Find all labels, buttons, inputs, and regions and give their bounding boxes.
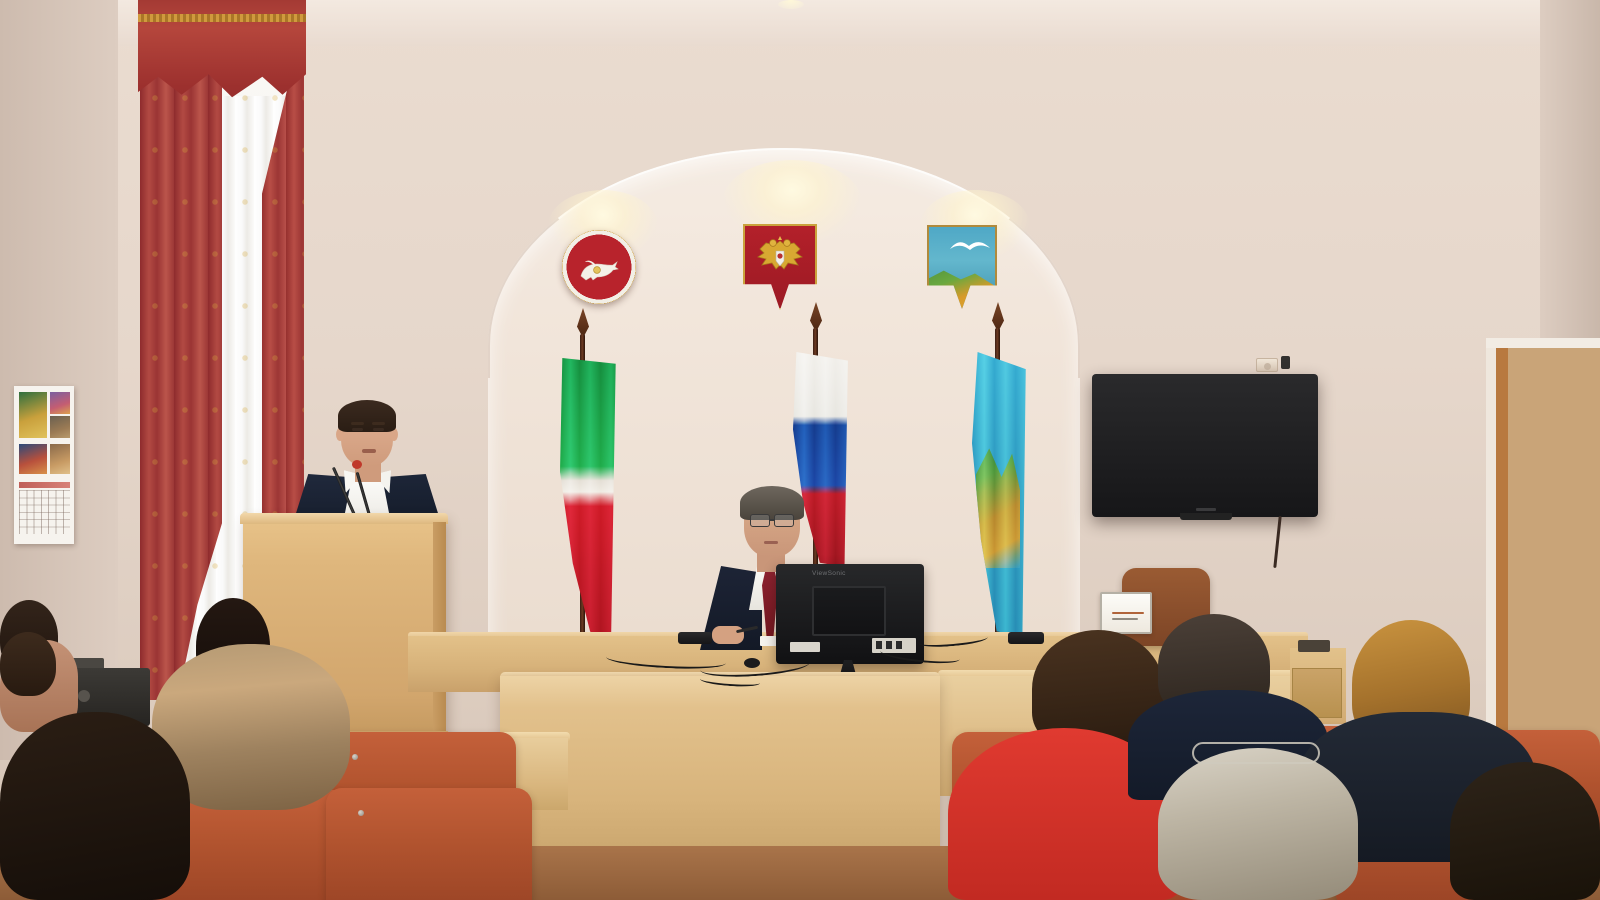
official-eyeglasses-left-lens (750, 514, 770, 527)
wall-outlet[interactable] (1256, 358, 1278, 372)
seagull-icon (949, 239, 991, 253)
audience-eyeglasses-on-head (1192, 742, 1320, 764)
calendar-date-grid (19, 490, 70, 534)
conference-hall-photo: 2023 О ПРОВЕДЕНИИ РАЙОННОЙ СПАРТАКИАДЫ С… (0, 0, 1600, 900)
speaker-eye-left (352, 428, 363, 431)
door-header-trim (1486, 338, 1600, 348)
podium-top-surface (240, 513, 448, 524)
speaker-brow-right (372, 422, 385, 425)
snow-leopard-icon (577, 256, 621, 282)
calendar-photo (19, 444, 47, 474)
official-eyeglasses-bridge (770, 519, 775, 521)
speaker-eye-right (373, 428, 384, 431)
chair-stud (358, 810, 364, 816)
podium-microphone-head-icon (352, 460, 362, 469)
speaker-brow-left (351, 422, 364, 425)
audience-head (1158, 748, 1358, 900)
audience-head (0, 632, 56, 696)
wall-calendar (14, 386, 74, 544)
audience-head (0, 712, 190, 900)
coat-of-arms-tatarstan-icon (562, 230, 636, 304)
speaker-mouth (362, 449, 376, 453)
podium-side-panel (433, 522, 446, 737)
audience-head (1450, 762, 1600, 900)
side-cabinet-item (1298, 640, 1330, 652)
calendar-photo (50, 392, 70, 414)
calendar-month-title (19, 482, 70, 488)
monitor-spec-label (790, 642, 820, 652)
display-indicator (1196, 508, 1216, 511)
calendar-photo (50, 416, 70, 438)
official-eyeglasses-right-lens (774, 514, 794, 527)
chair-stud (352, 754, 358, 760)
monitor-vesa-plate (812, 586, 886, 636)
desk-microphone-right (1008, 632, 1044, 644)
monitor-brand-label: ViewSonic (812, 570, 846, 577)
calendar-photo (19, 392, 47, 438)
ceiling-light (778, 0, 804, 9)
official-mouth (764, 541, 778, 544)
wall-plug (1281, 356, 1290, 369)
desk-microphone-left (678, 632, 712, 644)
equipment-box-knob[interactable] (78, 690, 90, 702)
speaker-hair (338, 400, 396, 432)
double-headed-eagle-icon (754, 235, 806, 277)
curtain-gold-trim (138, 14, 306, 22)
calendar-photo (50, 444, 70, 474)
display-mount (1180, 513, 1232, 520)
desk-nameplate (1100, 592, 1152, 634)
wall-mounted-display[interactable]: 2023 О ПРОВЕДЕНИИ РАЙОННОЙ СПАРТАКИАДЫ С… (1092, 374, 1318, 517)
audience-chair[interactable] (326, 788, 532, 900)
